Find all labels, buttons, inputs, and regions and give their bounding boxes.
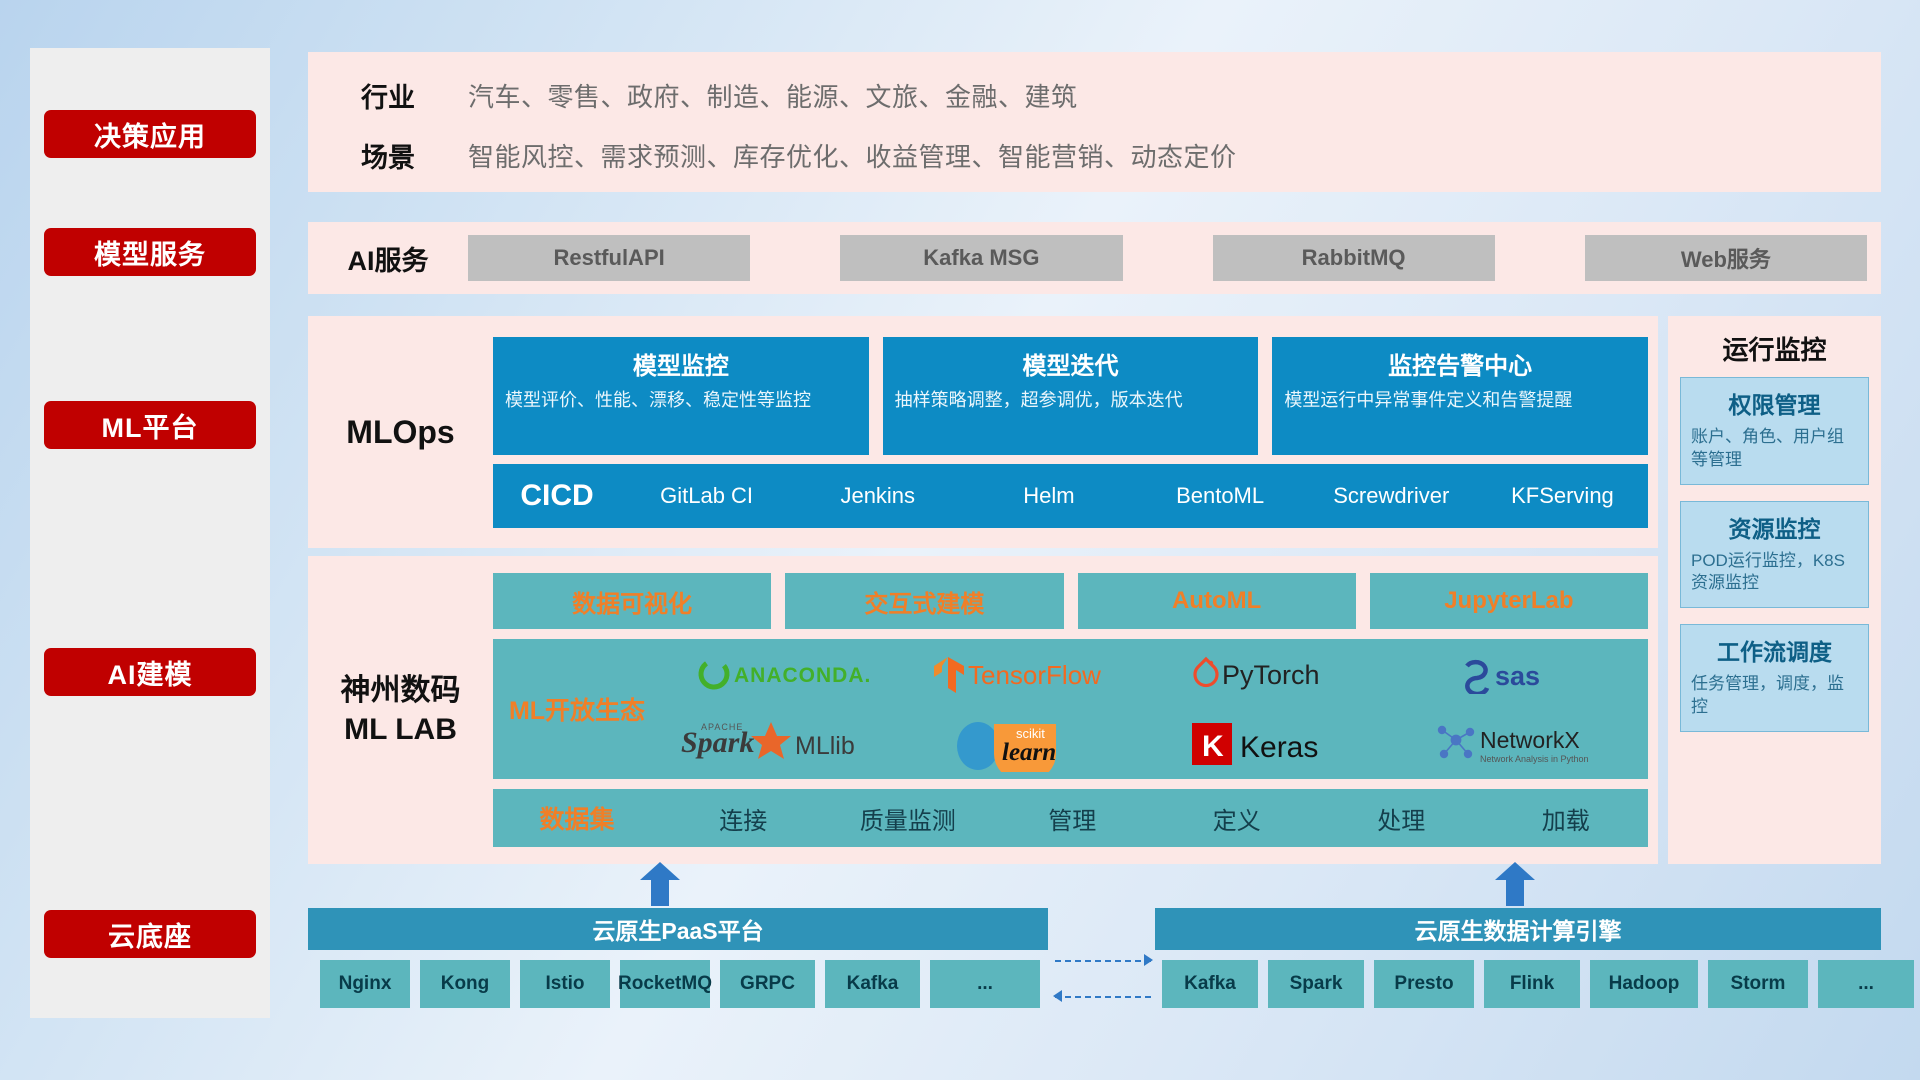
ml-lab-tab-row: 数据可视化 交互式建模 AutoML JupyterLab bbox=[493, 573, 1648, 629]
card-title: 模型迭代 bbox=[895, 346, 1247, 381]
ai-service-chip-web-service[interactable]: Web服务 bbox=[1585, 235, 1867, 281]
card-title: 模型监控 bbox=[505, 346, 857, 381]
svg-text:ANACONDA.: ANACONDA. bbox=[734, 664, 871, 687]
decision-app-panel: 行业 汽车、零售、政府、制造、能源、文旅、金融、建筑 场景 智能风控、需求预测、… bbox=[308, 52, 1881, 192]
svg-text:PyTorch: PyTorch bbox=[1222, 660, 1320, 690]
industry-row: 行业 汽车、零售、政府、制造、能源、文旅、金融、建筑 bbox=[308, 70, 1881, 120]
svg-text:TensorFlow: TensorFlow bbox=[968, 660, 1101, 690]
cicd-item-helm[interactable]: Helm bbox=[963, 485, 1134, 507]
tab-automl[interactable]: AutoML bbox=[1078, 573, 1356, 629]
dataset-item-manage[interactable]: 管理 bbox=[990, 801, 1155, 836]
networkx-logo: NetworkX Network Analysis in Python bbox=[1401, 709, 1648, 779]
mlops-content: 模型监控 模型评价、性能、漂移、稳定性等监控 模型迭代 抽样策略调整，超参调优，… bbox=[493, 337, 1658, 528]
data-chip-flink[interactable]: Flink bbox=[1484, 960, 1580, 1008]
sas-logo: sas bbox=[1401, 639, 1648, 709]
ai-service-chip-rabbitmq[interactable]: RabbitMQ bbox=[1213, 235, 1495, 281]
data-engine-chip-row: Kafka Spark Presto Flink Hadoop Storm ..… bbox=[1162, 960, 1914, 1008]
ai-service-chip-kafka-msg[interactable]: Kafka MSG bbox=[840, 235, 1122, 281]
ml-lab-label-line2: ML LAB bbox=[308, 710, 493, 749]
ai-modeling-panel: 神州数码 ML LAB 数据可视化 交互式建模 AutoML JupyterLa… bbox=[308, 556, 1658, 864]
svg-text:K: K bbox=[1202, 730, 1224, 763]
spark-mllib-logo: Spark APACHE MLlib bbox=[661, 709, 908, 779]
data-chip-storm[interactable]: Storm bbox=[1708, 960, 1808, 1008]
runtime-monitoring-panel: 运行监控 权限管理 账户、角色、用户组等管理 资源监控 POD运行监控，K8S资… bbox=[1668, 316, 1881, 864]
keras-logo: K Keras bbox=[1155, 709, 1402, 779]
dataset-bar: 数据集 连接 质量监测 管理 定义 处理 加载 bbox=[493, 789, 1648, 847]
ml-ecosystem-label: ML开放生态 bbox=[493, 691, 661, 727]
scenario-label: 场景 bbox=[308, 136, 468, 175]
tab-interactive-modeling[interactable]: 交互式建模 bbox=[785, 573, 1063, 629]
dataset-item-connect[interactable]: 连接 bbox=[661, 801, 826, 836]
monitoring-title: 运行监控 bbox=[1668, 316, 1881, 377]
data-chip-presto[interactable]: Presto bbox=[1374, 960, 1474, 1008]
tab-data-visualization[interactable]: 数据可视化 bbox=[493, 573, 771, 629]
svg-text:sas: sas bbox=[1495, 661, 1540, 691]
data-chip-hadoop[interactable]: Hadoop bbox=[1590, 960, 1698, 1008]
cicd-item-screwdriver[interactable]: Screwdriver bbox=[1306, 485, 1477, 507]
rail-label: AI建模 bbox=[108, 653, 193, 692]
svg-text:MLlib: MLlib bbox=[795, 732, 855, 760]
dataset-item-load[interactable]: 加载 bbox=[1484, 801, 1649, 836]
cicd-title: CICD bbox=[493, 479, 621, 513]
card-desc: 账户、角色、用户组等管理 bbox=[1691, 426, 1858, 472]
mlops-label: MLOps bbox=[308, 414, 493, 451]
ai-service-chip-row: RestfulAPI Kafka MSG RabbitMQ Web服务 bbox=[468, 235, 1881, 281]
data-chip-spark[interactable]: Spark bbox=[1268, 960, 1364, 1008]
industry-values: 汽车、零售、政府、制造、能源、文旅、金融、建筑 bbox=[468, 77, 1078, 114]
rail-label: 云底座 bbox=[108, 915, 192, 954]
svg-text:Network Analysis in Python: Network Analysis in Python bbox=[1480, 754, 1589, 764]
ml-lab-label-line1: 神州数码 bbox=[308, 671, 493, 710]
card-desc: 任务管理，调度，监控 bbox=[1691, 673, 1858, 719]
svg-text:NetworkX: NetworkX bbox=[1480, 727, 1580, 753]
paas-platform-bar: 云原生PaaS平台 bbox=[308, 908, 1048, 950]
data-chip-kafka[interactable]: Kafka bbox=[1162, 960, 1258, 1008]
cicd-item-bentoml[interactable]: BentoML bbox=[1135, 485, 1306, 507]
anaconda-logo: ANACONDA. bbox=[661, 639, 908, 709]
mlops-card-model-iteration[interactable]: 模型迭代 抽样策略调整，超参调优，版本迭代 bbox=[883, 337, 1259, 455]
rail-label: 决策应用 bbox=[94, 115, 206, 154]
rail-label: 模型服务 bbox=[94, 233, 206, 272]
paas-chip-kafka[interactable]: Kafka bbox=[825, 960, 920, 1008]
scenario-values: 智能风控、需求预测、库存优化、收益管理、智能营销、动态定价 bbox=[468, 137, 1237, 174]
cicd-item-row: GitLab CI Jenkins Helm BentoML Screwdriv… bbox=[621, 485, 1648, 507]
mlops-card-row: 模型监控 模型评价、性能、漂移、稳定性等监控 模型迭代 抽样策略调整，超参调优，… bbox=[493, 337, 1648, 455]
monitoring-card-workflow[interactable]: 工作流调度 任务管理，调度，监控 bbox=[1680, 624, 1869, 732]
svg-text:APACHE: APACHE bbox=[701, 722, 743, 732]
card-title: 工作流调度 bbox=[1691, 633, 1858, 667]
ai-service-label: AI服务 bbox=[308, 239, 468, 278]
card-title: 权限管理 bbox=[1691, 386, 1858, 420]
card-desc: POD运行监控，K8S资源监控 bbox=[1691, 550, 1858, 596]
rail-label: ML平台 bbox=[102, 406, 199, 445]
ml-ecosystem-bar: ML开放生态 ANACONDA. TensorFlow bbox=[493, 639, 1648, 779]
card-desc: 抽样策略调整，超参调优，版本迭代 bbox=[895, 389, 1247, 413]
rail-item-decision-app[interactable]: 决策应用 bbox=[44, 110, 256, 158]
arrow-up-paas-to-lab bbox=[640, 862, 680, 906]
scenario-row: 场景 智能风控、需求预测、库存优化、收益管理、智能营销、动态定价 bbox=[308, 130, 1881, 180]
ml-ecosystem-logo-grid: ANACONDA. TensorFlow PyTorch bbox=[661, 639, 1648, 779]
cicd-item-kfserving[interactable]: KFServing bbox=[1477, 485, 1648, 507]
rail-item-ai-modeling[interactable]: AI建模 bbox=[44, 648, 256, 696]
dataset-title: 数据集 bbox=[493, 800, 661, 836]
ml-lab-label: 神州数码 ML LAB bbox=[308, 671, 493, 749]
paas-chip-row: Nginx Kong Istio RocketMQ GRPC Kafka ... bbox=[320, 960, 1040, 1008]
cicd-bar: CICD GitLab CI Jenkins Helm BentoML Scre… bbox=[493, 464, 1648, 528]
ml-lab-content: 数据可视化 交互式建模 AutoML JupyterLab ML开放生态 ANA… bbox=[493, 573, 1658, 847]
ai-service-panel: AI服务 RestfulAPI Kafka MSG RabbitMQ Web服务 bbox=[308, 222, 1881, 294]
card-desc: 模型运行中异常事件定义和告警提醒 bbox=[1284, 389, 1636, 413]
monitoring-card-resource[interactable]: 资源监控 POD运行监控，K8S资源监控 bbox=[1680, 501, 1869, 609]
paas-chip-istio[interactable]: Istio bbox=[520, 960, 610, 1008]
pytorch-logo: PyTorch bbox=[1155, 639, 1402, 709]
paas-chip-rocketmq[interactable]: RocketMQ bbox=[620, 960, 710, 1008]
cicd-item-gitlab-ci[interactable]: GitLab CI bbox=[621, 485, 792, 507]
paas-data-exchange-arrows bbox=[1055, 952, 1151, 1006]
svg-text:Keras: Keras bbox=[1240, 731, 1318, 764]
svg-text:learn: learn bbox=[1002, 739, 1056, 766]
mlops-panel: MLOps 模型监控 模型评价、性能、漂移、稳定性等监控 模型迭代 抽样策略调整… bbox=[308, 316, 1658, 548]
layer-rail: 决策应用 模型服务 ML平台 AI建模 云底座 bbox=[30, 48, 270, 1018]
rail-item-ml-platform[interactable]: ML平台 bbox=[44, 401, 256, 449]
dataset-item-define[interactable]: 定义 bbox=[1155, 801, 1320, 836]
mlops-card-alert-center[interactable]: 监控告警中心 模型运行中异常事件定义和告警提醒 bbox=[1272, 337, 1648, 455]
industry-label: 行业 bbox=[308, 76, 468, 115]
rail-item-model-service[interactable]: 模型服务 bbox=[44, 228, 256, 276]
paas-chip-nginx[interactable]: Nginx bbox=[320, 960, 410, 1008]
rail-item-cloud-base[interactable]: 云底座 bbox=[44, 910, 256, 958]
scikit-learn-logo: scikit learn bbox=[908, 709, 1155, 779]
data-engine-bar: 云原生数据计算引擎 bbox=[1155, 908, 1881, 950]
card-title: 资源监控 bbox=[1691, 510, 1858, 544]
cicd-item-jenkins[interactable]: Jenkins bbox=[792, 485, 963, 507]
paas-chip-more[interactable]: ... bbox=[930, 960, 1040, 1008]
data-chip-more[interactable]: ... bbox=[1818, 960, 1914, 1008]
ai-service-chip-restfulapi[interactable]: RestfulAPI bbox=[468, 235, 750, 281]
card-title: 监控告警中心 bbox=[1284, 346, 1636, 381]
dataset-item-row: 连接 质量监测 管理 定义 处理 加载 bbox=[661, 801, 1648, 836]
card-desc: 模型评价、性能、漂移、稳定性等监控 bbox=[505, 389, 857, 413]
paas-chip-kong[interactable]: Kong bbox=[420, 960, 510, 1008]
tensorflow-logo: TensorFlow bbox=[908, 639, 1155, 709]
paas-chip-grpc[interactable]: GRPC bbox=[720, 960, 815, 1008]
dataset-item-quality[interactable]: 质量监测 bbox=[826, 801, 991, 836]
mlops-card-model-monitoring[interactable]: 模型监控 模型评价、性能、漂移、稳定性等监控 bbox=[493, 337, 869, 455]
tab-jupyterlab[interactable]: JupyterLab bbox=[1370, 573, 1648, 629]
arrow-up-data-engine-to-lab bbox=[1495, 862, 1535, 906]
monitoring-card-permission[interactable]: 权限管理 账户、角色、用户组等管理 bbox=[1680, 377, 1869, 485]
dataset-item-process[interactable]: 处理 bbox=[1319, 801, 1484, 836]
